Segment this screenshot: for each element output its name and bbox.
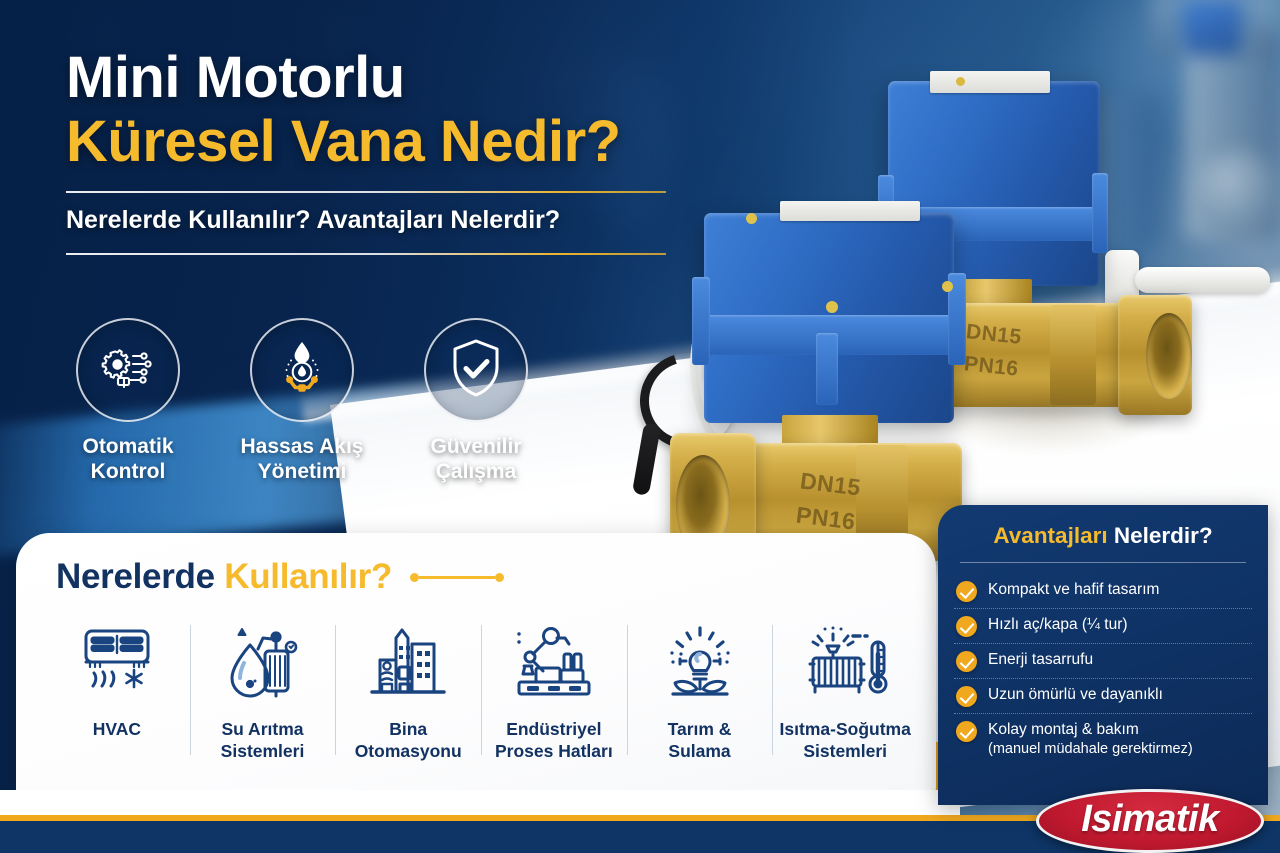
advantage-text: Kompakt ve hafif tasarım: [988, 580, 1159, 600]
usage-item-tarim-sulama[interactable]: Tarım & Sulama: [627, 621, 773, 763]
industrial-robot-icon: [511, 624, 597, 705]
radiator-thermometer-icon: [801, 624, 889, 705]
advantage-item: Uzun ömürlü ve dayanıklı: [954, 679, 1252, 714]
valve-housing-rib-left-front: [692, 277, 710, 365]
air-conditioner-icon: [77, 625, 157, 704]
advantage-text: Kolay montaj & bakım (manuel müdahale ge…: [988, 720, 1193, 758]
page-title-line2: Küresel Vana Nedir?: [66, 112, 706, 172]
agriculture-irrigation-icon: [659, 624, 741, 705]
feature-label-line1: Güvenilir: [430, 435, 521, 458]
advantage-item: Kolay montaj & bakım (manuel müdahale ge…: [954, 714, 1252, 764]
feature-circle: [76, 318, 180, 422]
valve-thread-opening-back: [1146, 313, 1192, 399]
advantages-title-plain: Nelerdir?: [1108, 523, 1213, 548]
usage-heading: Nerelerde Kullanılır?: [56, 557, 392, 597]
usage-label: Bina Otomasyonu: [355, 719, 462, 763]
usage-label-line1: Bina: [389, 719, 427, 739]
card-bottom-extension: [0, 790, 960, 816]
usage-card-header: Nerelerde Kullanılır?: [56, 557, 504, 597]
building-automation-icon: [366, 624, 450, 705]
usage-icon-wrap: [366, 621, 450, 707]
water-treatment-icon: [224, 623, 302, 706]
feature-item-guvenilir-calisma: Güvenilir Çalışma: [400, 318, 552, 485]
usage-heading-plain: Nerelerde: [56, 557, 224, 596]
feature-label: Hassas Akış Yönetimi: [226, 435, 378, 485]
feature-item-hassas-akis: Hassas Akış Yönetimi: [226, 318, 378, 485]
usage-heading-accent: Kullanılır?: [224, 557, 392, 596]
feature-label-line2: Kontrol: [91, 460, 166, 483]
valve-housing-rib-center-front: [816, 333, 838, 405]
feature-circle: [250, 318, 354, 422]
brand-logo[interactable]: Isimatik: [1036, 789, 1264, 853]
feature-label: Güvenilir Çalışma: [400, 435, 552, 485]
title-divider-bottom: [66, 253, 666, 255]
check-circle-icon: [956, 581, 977, 602]
feature-label-line2: Yönetimi: [258, 460, 347, 483]
usage-label-line1: Tarım &: [668, 719, 732, 739]
dash-dot-right: [495, 573, 504, 582]
usage-item-su-aritma[interactable]: Su Arıtma Sistemleri: [190, 621, 336, 763]
dash-bar: [419, 576, 495, 579]
water-drop-flow-icon: [272, 338, 332, 403]
usage-label: Tarım & Sulama: [668, 719, 732, 763]
shield-check-icon: [448, 337, 504, 404]
valve-white-cable-back: [1135, 267, 1270, 293]
usage-label-line2: Sistemleri: [221, 741, 305, 761]
feature-item-otomatik-kontrol: Otomatik Kontrol: [52, 318, 204, 485]
advantage-text-sub: (manuel müdahale gerektirmez): [988, 740, 1193, 759]
dash-dot-left: [410, 573, 419, 582]
usage-label-line1: Isıtma-Soğutma: [780, 719, 911, 739]
valve-screw-front-1: [746, 213, 757, 224]
usage-items-row: HVAC: [44, 621, 918, 763]
usage-label: HVAC: [93, 719, 141, 741]
advantage-item: Hızlı aç/kapa (¼ tur): [954, 609, 1252, 644]
valve-spec-label-back: [930, 71, 1050, 93]
advantage-text-main: Kolay montaj & bakım: [988, 721, 1139, 738]
usage-label-line2: Otomasyonu: [355, 741, 462, 761]
usage-label: Endüstriyel Proses Hatları: [495, 719, 613, 763]
hero-text-block: Mini Motorlu Küresel Vana Nedir? Nereler…: [66, 48, 706, 255]
feature-label: Otomatik Kontrol: [52, 435, 204, 485]
usage-label-line1: HVAC: [93, 719, 141, 739]
gear-circuit-icon: [97, 338, 159, 403]
infographic-canvas: DN15 PN16 DN15 PN16 Mini Motorlu Küresel: [0, 0, 1280, 853]
advantages-title-accent: Avantajları: [993, 523, 1107, 548]
valve-screw-back: [956, 77, 965, 86]
logo-text: Isimatik: [1036, 789, 1264, 853]
usage-item-endustriyel-proses[interactable]: Endüstriyel Proses Hatları: [481, 621, 627, 763]
check-circle-icon: [956, 616, 977, 637]
advantage-text: Uzun ömürlü ve dayanıklı: [988, 685, 1163, 705]
advantage-item: Kompakt ve hafif tasarım: [954, 574, 1252, 609]
valve-spec-label-front: [780, 201, 920, 221]
usage-label-line2: Sistemleri: [803, 741, 887, 761]
usage-label-line2: Sulama: [668, 741, 730, 761]
usage-label-line1: Endüstriyel: [506, 719, 601, 739]
title-divider-top: [66, 191, 666, 193]
feature-label-line1: Hassas Akış: [241, 435, 364, 458]
usage-label-line1: Su Arıtma: [221, 719, 303, 739]
advantage-text: Enerji tasarrufu: [988, 650, 1093, 670]
usage-icon-wrap: [801, 621, 889, 707]
usage-icon-wrap: [224, 621, 302, 707]
usage-icon-wrap: [659, 621, 741, 707]
usage-label: Su Arıtma Sistemleri: [221, 719, 305, 763]
feature-circle: [424, 318, 528, 422]
check-circle-icon: [956, 686, 977, 707]
usage-areas-card: Nerelerde Kullanılır?: [16, 533, 936, 820]
valve-screw-front-3: [942, 281, 953, 292]
heading-dash-decoration: [410, 573, 504, 582]
feature-label-line2: Çalışma: [436, 460, 517, 483]
usage-item-bina-otomasyonu[interactable]: Bina Otomasyonu: [335, 621, 481, 763]
check-circle-icon: [956, 651, 977, 672]
valve-housing-rib-right-back: [1092, 173, 1108, 253]
advantages-list: Kompakt ve hafif tasarım Hızlı aç/kapa (…: [954, 574, 1252, 764]
check-circle-icon: [956, 721, 977, 742]
page-title-line1: Mini Motorlu: [66, 48, 706, 108]
usage-label-line2: Proses Hatları: [495, 741, 613, 761]
advantages-divider: [960, 562, 1246, 563]
advantages-panel: Avantajları Nelerdir? Kompakt ve hafif t…: [938, 505, 1268, 805]
feature-highlights: Otomatik Kontrol: [52, 318, 552, 485]
usage-label: Isıtma-Soğutma Sistemleri: [780, 719, 911, 763]
usage-item-hvac[interactable]: HVAC: [44, 621, 190, 763]
feature-label-line1: Otomatik: [82, 435, 173, 458]
valve-screw-front-2: [826, 301, 838, 313]
advantage-text: Hızlı aç/kapa (¼ tur): [988, 615, 1128, 635]
advantage-item: Enerji tasarrufu: [954, 644, 1252, 679]
usage-item-isitma-sogutma[interactable]: Isıtma-Soğutma Sistemleri: [772, 621, 918, 763]
usage-icon-wrap: [511, 621, 597, 707]
page-subtitle: Nerelerde Kullanılır? Avantajları Nelerd…: [66, 206, 706, 235]
usage-icon-wrap: [77, 621, 157, 707]
advantages-title: Avantajları Nelerdir?: [954, 523, 1252, 549]
